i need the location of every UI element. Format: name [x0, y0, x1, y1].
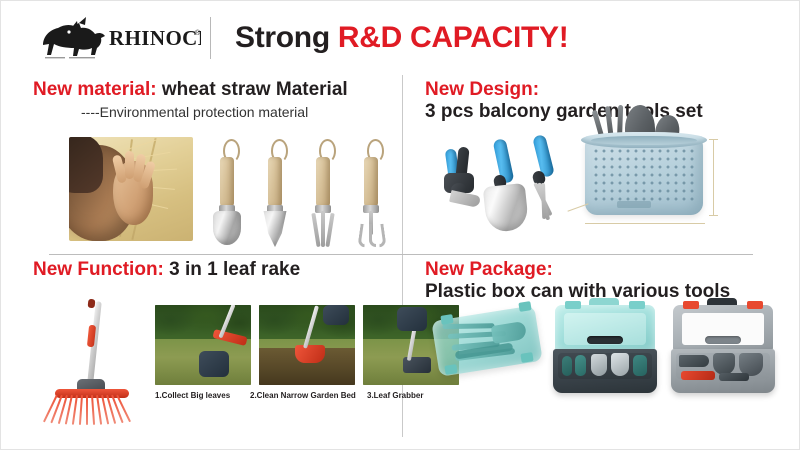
panel-new-design: New Design: 3 pcs balcony garden tools s… — [425, 79, 777, 251]
new-function-value: 3 in 1 leaf rake — [169, 259, 300, 280]
new-material-subnote: ----Environmental protection material — [33, 104, 395, 121]
function-caption-2: 2.Clean Narrow Garden Bed — [250, 391, 356, 400]
new-material-value: wheat straw Material — [162, 79, 348, 100]
new-package-label: New Package: — [425, 259, 777, 281]
dim-height-line — [713, 139, 714, 215]
tool-three-tine-fork — [303, 135, 343, 247]
function-caption-1: 1.Collect Big leaves — [155, 391, 230, 400]
new-function-heading: New Function: 3 in 1 leaf rake — [33, 259, 395, 281]
function-photo-2 — [259, 305, 355, 385]
storage-caddy-illustration — [567, 105, 749, 233]
dim-height-tick-bottom — [709, 215, 718, 216]
dim-height-tick-top — [709, 139, 718, 140]
rhinoceros-logo-icon: RHINOCEROS ® — [29, 15, 201, 61]
slide-root: RHINOCEROS ® RHINOCEROS Strong R&D CAPAC… — [0, 0, 800, 450]
function-photo-1 — [155, 305, 251, 385]
svg-text:RHINOCEROS: RHINOCEROS — [109, 26, 201, 50]
caddy-brand-badge — [617, 201, 651, 208]
wheat-field-photo — [69, 137, 193, 241]
leaf-rake-illustration — [37, 299, 149, 425]
new-material-heading: New material: wheat straw Material — [33, 79, 395, 101]
closed-teal-tool-case — [435, 303, 539, 379]
svg-text:®: ® — [195, 29, 201, 37]
open-teal-tool-case — [553, 303, 657, 395]
new-function-label: New Function: — [33, 259, 164, 280]
function-caption-3: 3.Leaf Grabber — [367, 391, 423, 400]
page-title-prefix: Strong — [235, 21, 338, 54]
wheat-straw-tools-group — [203, 131, 393, 247]
horizontal-divider — [49, 254, 753, 255]
tool-round-trowel — [207, 135, 247, 247]
page-title: Strong R&D CAPACITY! — [235, 18, 568, 58]
panel-new-function: New Function: 3 in 1 leaf rake — [33, 259, 395, 437]
dim-width-line — [585, 223, 705, 224]
new-design-label: New Design: — [425, 79, 777, 101]
new-material-label: New material: — [33, 79, 157, 100]
slide-header: RHINOCEROS ® RHINOCEROS Strong R&D CAPAC… — [1, 1, 800, 73]
caddy-inner-shadow — [591, 136, 697, 145]
header-separator — [210, 17, 211, 59]
tool-pointed-transplanter — [255, 135, 295, 247]
brand-logo: RHINOCEROS ® RHINOCEROS — [29, 15, 201, 61]
panel-new-material: New material: wheat straw Material ----E… — [33, 79, 395, 251]
hand-shape — [113, 161, 153, 225]
open-gray-tool-case — [671, 303, 775, 395]
panel-new-package: New Package: Plastic box can with variou… — [425, 259, 777, 437]
tool-three-prong-cultivator — [351, 135, 391, 247]
hair-shape — [69, 137, 103, 193]
page-title-highlight: R&D CAPACITY! — [338, 21, 569, 54]
